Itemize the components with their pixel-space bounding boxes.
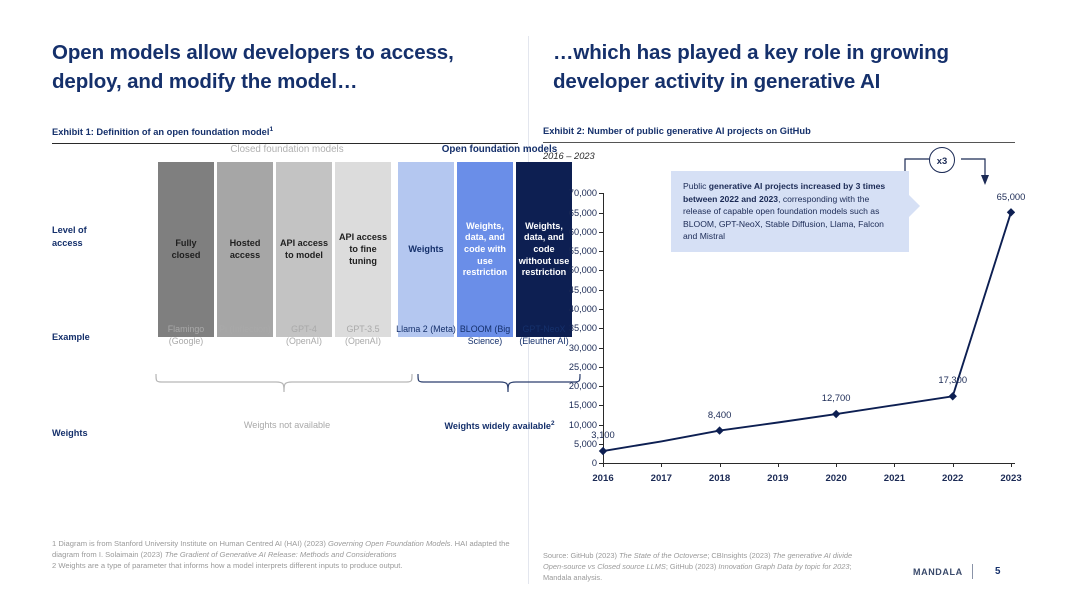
left-headline: Open models allow developers to access, … xyxy=(52,38,518,96)
footnote-1-text-a: Diagram is from Stanford University Inst… xyxy=(58,539,328,548)
access-column[interactable]: API access to fine tuning xyxy=(335,162,391,337)
callout-text-a: Public xyxy=(683,181,709,191)
source-text-c: ; GitHub (2023) xyxy=(666,562,719,571)
left-exhibit-title-footnote-marker: 1 xyxy=(269,126,273,133)
weights-summary-closed: Weights not available xyxy=(158,420,416,430)
footnote-1-italic-a: Governing Open Foundation Models xyxy=(328,539,450,548)
access-column-label: Hosted access xyxy=(219,238,271,261)
right-exhibit-title: Exhibit 2: Number of public generative A… xyxy=(543,126,1015,136)
source-italic-c: Innovation Graph Data by topic for 2023 xyxy=(718,562,849,571)
footnote-1: 1 Diagram is from Stanford University In… xyxy=(52,538,522,560)
chart-data-label: 17,300 xyxy=(924,374,982,385)
left-panel: Open models allow developers to access, … xyxy=(52,38,518,474)
chart-data-marker xyxy=(832,410,840,418)
access-column-label: API access to fine tuning xyxy=(337,232,389,267)
source-text-a: Source: GitHub (2023) xyxy=(543,551,619,560)
footer-separator xyxy=(972,564,973,579)
access-column[interactable]: Fully closed xyxy=(158,162,214,337)
right-headline: …which has played a key role in growing … xyxy=(543,38,1015,96)
chart-data-label: 12,700 xyxy=(807,392,865,403)
slide: Open models allow developers to access, … xyxy=(0,0,1067,600)
row-label-level-of-access: Level of access xyxy=(52,224,108,249)
example-cell: BLOOM (Big Science) xyxy=(455,324,515,347)
access-column[interactable]: Weights, data, and code with use restric… xyxy=(457,162,513,337)
chart-data-label: 3,100 xyxy=(574,429,632,440)
access-column[interactable]: Hosted access xyxy=(217,162,273,337)
access-column-label: API access to model xyxy=(278,238,330,261)
brand-logo: MANDALA xyxy=(913,567,963,577)
example-cell: Flamingo (Google) xyxy=(156,324,216,347)
right-panel: …which has played a key role in growing … xyxy=(543,38,1015,493)
access-column-label: Weights, data, and code with use restric… xyxy=(459,221,511,279)
open-model-diagram: Closed foundation models Open foundation… xyxy=(52,144,518,474)
access-column[interactable]: Weights xyxy=(398,162,454,337)
footnote-2-text: Weights are a type of parameter that inf… xyxy=(58,561,402,570)
grouping-braces xyxy=(152,372,584,398)
example-cell: Llama 2 (Meta) xyxy=(396,324,456,336)
weights-summary-open-text: Weights widely available xyxy=(444,421,550,431)
footnote-2: 2 Weights are a type of parameter that i… xyxy=(52,560,522,571)
left-footnotes: 1 Diagram is from Stanford University In… xyxy=(52,538,522,571)
footnote-1-italic-b: The Gradient of Generative AI Release: M… xyxy=(165,550,397,559)
left-exhibit-title-text: Exhibit 1: Definition of an open foundat… xyxy=(52,127,269,137)
group-label-closed: Closed foundation models xyxy=(158,144,416,155)
chart-data-label: 8,400 xyxy=(691,409,749,420)
callout-tail xyxy=(909,195,920,217)
chart-data-marker xyxy=(949,392,957,400)
page-number: 5 xyxy=(995,566,1000,577)
left-exhibit-title: Exhibit 1: Definition of an open foundat… xyxy=(52,126,518,137)
example-cell: GPT-4 (OpenAI) xyxy=(274,324,334,347)
example-cell: GPT-3.5 (OpenAI) xyxy=(333,324,393,347)
x3-connector xyxy=(899,141,1015,203)
chart-callout: Public generative AI projects increased … xyxy=(671,171,909,252)
example-cell: Pi (Inflection) xyxy=(215,324,275,336)
row-label-example: Example xyxy=(52,331,108,344)
chart-data-marker xyxy=(1007,208,1015,216)
row-label-weights: Weights xyxy=(52,427,108,440)
source-text-b: ; CBInsights (2023) xyxy=(707,551,772,560)
source-italic-a: The State of the Octoverse xyxy=(619,551,707,560)
access-column[interactable]: API access to model xyxy=(276,162,332,337)
chart-data-marker xyxy=(715,427,723,435)
access-column-label: Fully closed xyxy=(160,238,212,261)
access-column-label: Weights xyxy=(408,244,443,256)
chart-data-marker xyxy=(599,447,607,455)
github-projects-line-chart: 05,00010,00015,00020,00025,00030,00035,0… xyxy=(543,163,1015,493)
right-source-note: Source: GitHub (2023) The State of the O… xyxy=(543,550,873,583)
